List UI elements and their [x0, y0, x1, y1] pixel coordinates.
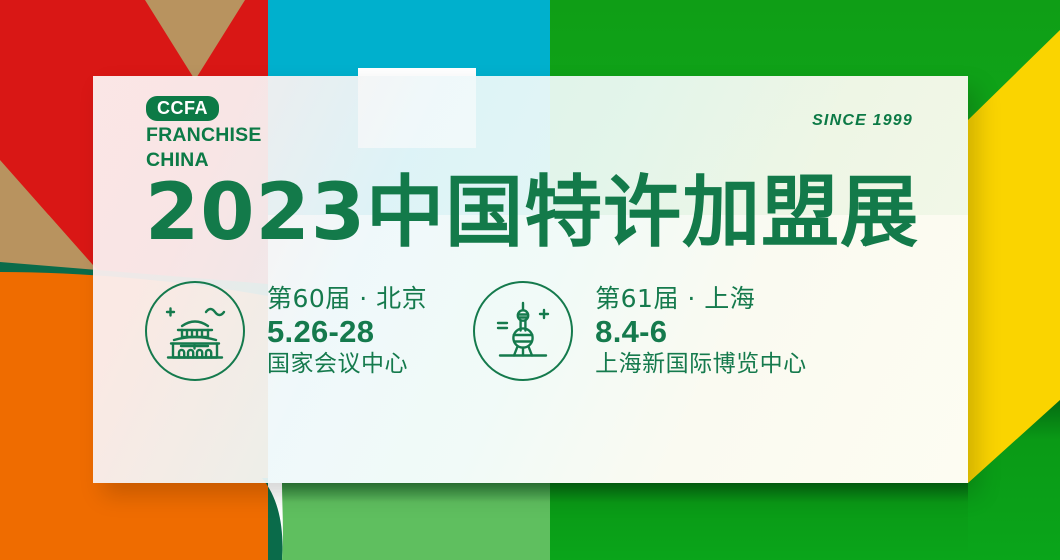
ccfa-pill-label: CCFA: [146, 96, 219, 121]
event-text-shanghai: 第61届 · 上海 8.4-6 上海新国际博览中心: [595, 286, 807, 376]
since-label: SINCE 1999: [812, 112, 913, 130]
event-title-shanghai: 第61届 · 上海: [595, 286, 807, 311]
event-venue-beijing: 国家会议中心: [267, 353, 427, 376]
poster-canvas: CCFA FRANCHISE CHINA SINCE 1999 2023中国特许…: [0, 0, 1060, 560]
brand-line-franchise: FRANCHISE: [146, 125, 262, 146]
page-title: 2023中国特许加盟展: [145, 174, 919, 252]
event-venue-shanghai: 上海新国际博览中心: [595, 353, 807, 376]
poster-card: CCFA FRANCHISE CHINA SINCE 1999 2023中国特许…: [93, 76, 968, 483]
event-date-beijing: 5.26-28: [267, 316, 427, 347]
event-list: 第60届 · 北京 5.26-28 国家会议中心: [145, 281, 935, 381]
tiananmen-icon: [145, 281, 245, 381]
event-date-shanghai: 8.4-6: [595, 316, 807, 347]
event-title-beijing: 第60届 · 北京: [267, 286, 427, 311]
event-item-beijing: 第60届 · 北京 5.26-28 国家会议中心: [145, 281, 427, 381]
ccfa-logo: CCFA FRANCHISE CHINA: [146, 96, 262, 171]
event-text-beijing: 第60届 · 北京 5.26-28 国家会议中心: [267, 286, 427, 376]
event-item-shanghai: 第61届 · 上海 8.4-6 上海新国际博览中心: [473, 281, 807, 381]
oriental-pearl-tower-icon: [473, 281, 573, 381]
